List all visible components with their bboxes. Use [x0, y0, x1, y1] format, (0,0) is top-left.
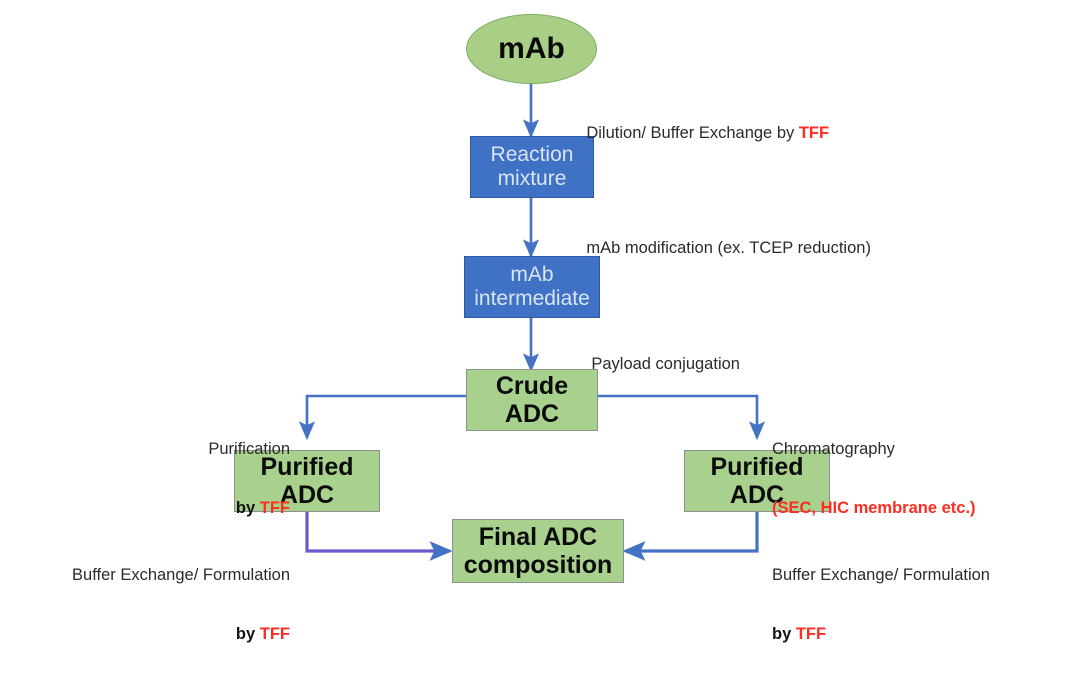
- node-mab[interactable]: mAb: [466, 14, 597, 84]
- edge-label-formulation-right-line2: by TFF: [772, 625, 1034, 645]
- edge-label-formulation-left-by: by: [236, 625, 260, 643]
- edge-label-dilution-accent: TFF: [799, 124, 829, 142]
- edge-label-conjugation: Payload conjugation: [573, 335, 740, 394]
- edge-crude-to-purified-right: [598, 396, 757, 438]
- edge-label-modification: mAb modification (ex. TCEP reduction): [568, 219, 871, 278]
- diagram-canvas: mAb Reaction mixture mAb intermediate Cr…: [0, 0, 1080, 621]
- node-crude-adc-label: Crude ADC: [496, 372, 568, 428]
- edge-label-purification-line2: by TFF: [120, 499, 290, 519]
- edge-label-formulation-right: Buffer Exchange/ Formulation by TFF: [772, 526, 1034, 684]
- edge-crude-to-purified-left: [307, 396, 466, 438]
- node-final-adc-label: Final ADC composition: [464, 523, 613, 579]
- edge-label-chromatography-line1: Chromatography: [772, 440, 1022, 460]
- edge-label-purification-by: by: [236, 499, 260, 517]
- edge-label-chromatography-accent: (SEC, HIC membrane etc.): [772, 499, 1022, 519]
- edge-label-formulation-right-by: by: [772, 625, 796, 643]
- edge-label-modification-text: mAb modification (ex. TCEP reduction): [586, 239, 871, 257]
- edge-label-formulation-right-accent: TFF: [796, 625, 826, 643]
- edge-label-purification-accent: TFF: [260, 499, 290, 517]
- node-mab-label: mAb: [498, 32, 565, 66]
- edge-label-formulation-left: Buffer Exchange/ Formulation by TFF: [28, 526, 290, 684]
- edge-purified-left-to-final: [307, 512, 450, 551]
- edge-label-formulation-left-line2: by TFF: [28, 625, 290, 645]
- edge-label-dilution-text: Dilution/ Buffer Exchange by: [586, 124, 799, 142]
- node-final-adc-composition[interactable]: Final ADC composition: [452, 519, 624, 583]
- node-reaction-mixture-label: Reaction mixture: [491, 143, 574, 190]
- edge-label-formulation-right-line1: Buffer Exchange/ Formulation: [772, 566, 1034, 586]
- edge-label-dilution: Dilution/ Buffer Exchange by TFF: [568, 104, 829, 163]
- edge-label-formulation-left-line1: Buffer Exchange/ Formulation: [28, 566, 290, 586]
- edge-label-formulation-left-accent: TFF: [260, 625, 290, 643]
- edge-label-conjugation-text: Payload conjugation: [591, 355, 740, 373]
- edge-purified-right-to-final: [625, 512, 757, 551]
- edge-label-purification-line1: Purification: [120, 440, 290, 460]
